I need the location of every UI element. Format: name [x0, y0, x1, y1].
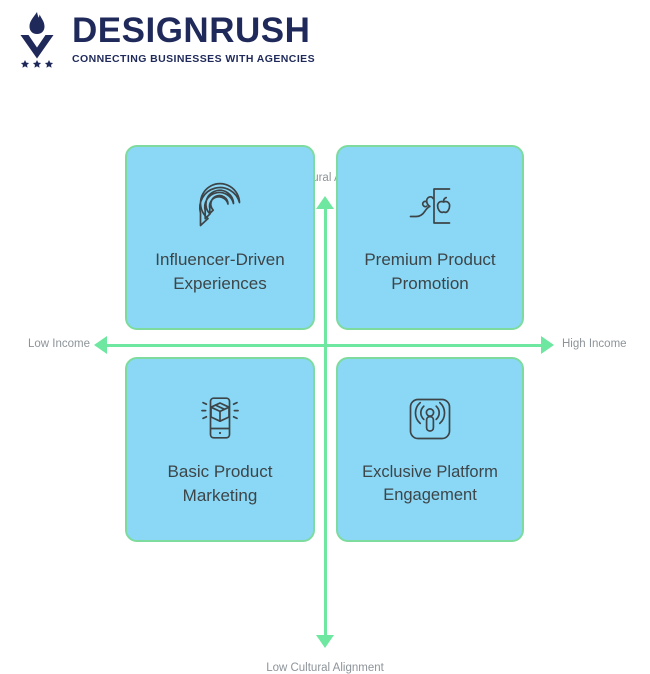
quadrant-card-top-left[interactable]: Influencer-DrivenExperiences — [125, 145, 315, 330]
quadrant-label: Basic ProductMarketing — [168, 460, 273, 507]
y-axis-low-label: Low Cultural Alignment — [0, 662, 650, 674]
quadrant-label: Exclusive PlatformEngagement — [362, 461, 498, 507]
x-axis-high-label: High Income — [562, 338, 627, 350]
brand-wordmark: DESIGNRUSH CONNECTING BUSINESSES WITH AG… — [72, 13, 315, 65]
quadrant-card-bottom-right[interactable]: Exclusive PlatformEngagement — [336, 357, 524, 542]
quadrant-matrix-chart: High Cultural Alignment Low Cultural Ali… — [0, 84, 650, 614]
vertical-axis-line — [324, 206, 327, 638]
quadrant-label: Influencer-DrivenExperiences — [155, 248, 284, 295]
horizontal-axis-line — [104, 344, 544, 347]
brand-header: DESIGNRUSH CONNECTING BUSINESSES WITH AG… — [12, 10, 315, 68]
brand-name: DESIGNRUSH — [72, 13, 315, 50]
arrow-up-icon — [316, 196, 334, 209]
nested-speech-bubbles-icon — [194, 180, 246, 232]
quadrant-card-top-right[interactable]: Premium ProductPromotion — [336, 145, 524, 330]
x-axis-low-label: Low Income — [28, 338, 90, 350]
brand-tagline: CONNECTING BUSINESSES WITH AGENCIES — [72, 53, 315, 65]
y-axis-high-label: High Cultural Alignment — [0, 172, 650, 184]
quadrant-card-bottom-left[interactable]: Basic ProductMarketing — [125, 357, 315, 542]
arrow-right-icon — [541, 336, 554, 354]
phone-package-delivery-icon — [194, 392, 246, 444]
quadrant-label: Premium ProductPromotion — [364, 248, 495, 295]
arrow-down-icon — [316, 635, 334, 648]
hand-presenting-premium-product-icon — [404, 180, 456, 232]
podcast-microphone-icon — [404, 393, 456, 445]
designrush-logo-icon — [12, 10, 62, 68]
arrow-left-icon — [94, 336, 107, 354]
